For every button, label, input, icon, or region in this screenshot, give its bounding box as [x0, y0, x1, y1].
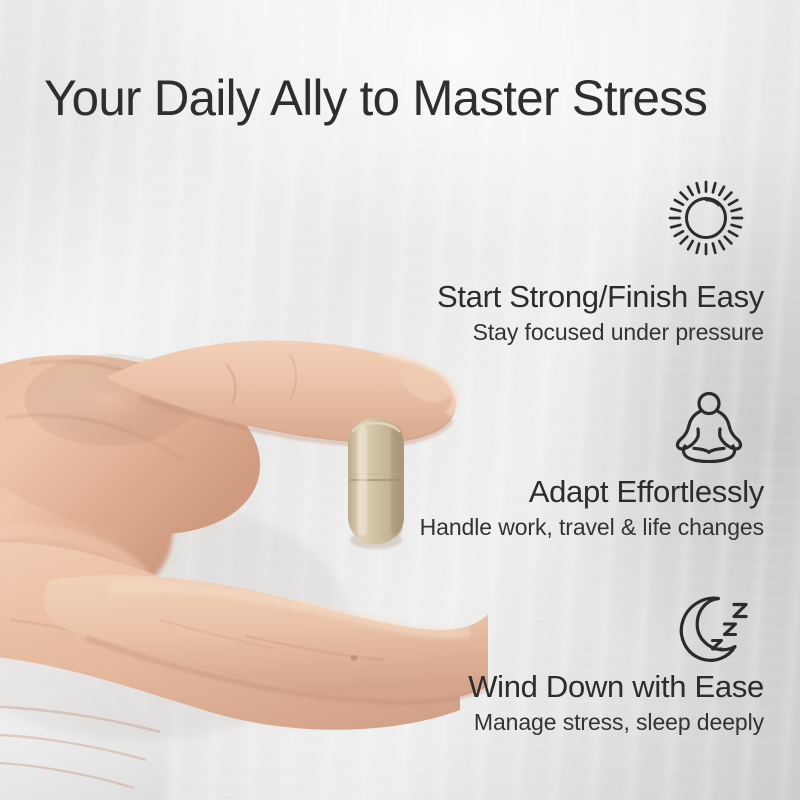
sun-icon	[666, 178, 746, 258]
benefit-item-2: Adapt Effortlessly Handle work, travel &…	[420, 473, 764, 542]
lotus-meditation-icon	[672, 391, 746, 463]
benefit-title: Wind Down with Ease	[468, 668, 764, 706]
benefit-item-1: Start Strong/Finish Easy Stay focused un…	[437, 278, 764, 347]
benefit-subtitle: Manage stress, sleep deeply	[468, 707, 764, 737]
benefit-title: Start Strong/Finish Easy	[437, 278, 764, 316]
benefit-item-3: Wind Down with Ease Manage stress, sleep…	[468, 668, 764, 737]
moon-sleep-icon	[668, 592, 748, 664]
hand-holding-capsule-photo	[0, 150, 490, 800]
page-title: Your Daily Ally to Master Stress	[44, 70, 763, 126]
benefit-subtitle: Handle work, travel & life changes	[420, 512, 764, 542]
capsule-pill	[348, 418, 404, 549]
benefit-title: Adapt Effortlessly	[420, 473, 764, 511]
promo-image: Your Daily Ally to Master Stress	[0, 0, 800, 800]
benefit-subtitle: Stay focused under pressure	[437, 317, 764, 347]
